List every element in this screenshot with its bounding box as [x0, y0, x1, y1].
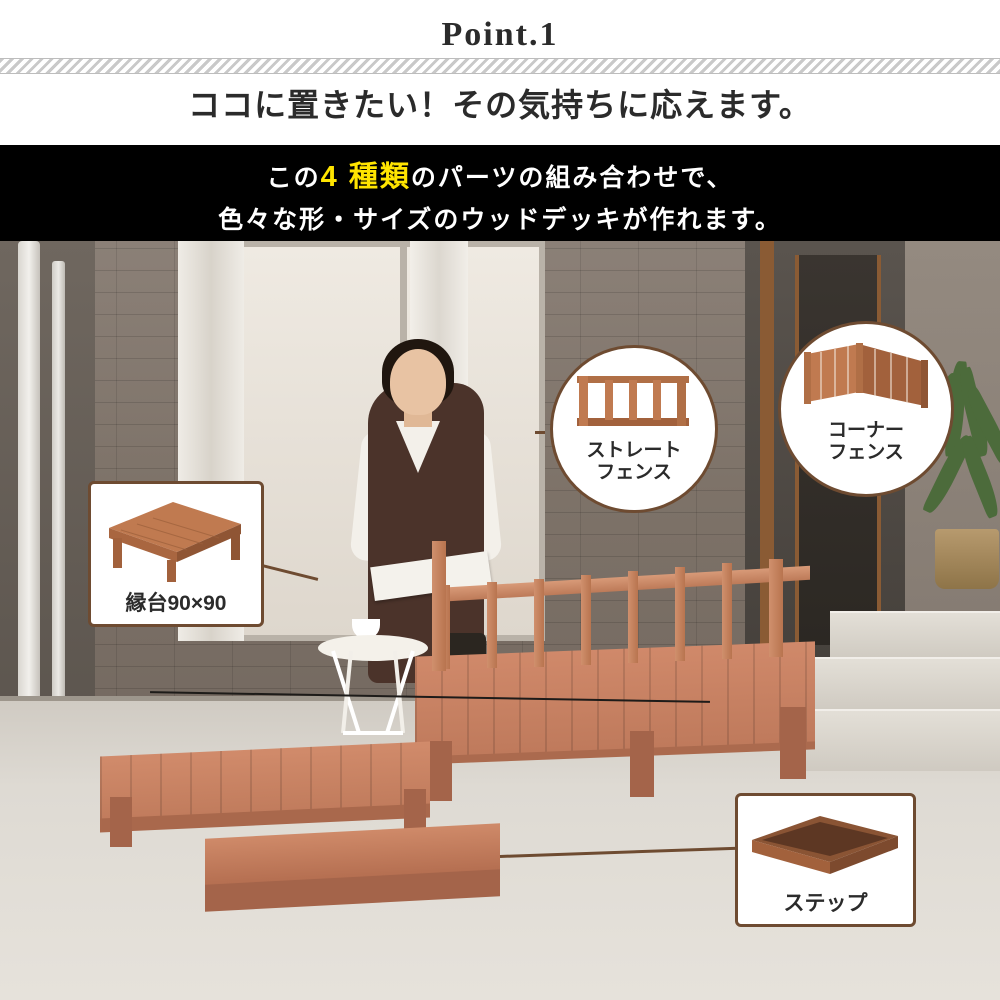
header: Point.1 ココに置きたい！その気持ちに応えます。 — [0, 0, 1000, 145]
callout-step: ステップ — [735, 793, 916, 927]
straight-fence-illustration — [573, 370, 693, 432]
callout-corner-fence-label: コーナー フェンス — [781, 420, 951, 464]
callout-straight-fence: ストレート フェンス — [550, 345, 718, 513]
railing-post — [769, 559, 783, 657]
highlight-band: この4 種類のパーツの組み合わせで、 色々な形・サイズのウッドデッキが作れます。 — [0, 145, 1000, 241]
railing-baluster — [675, 567, 685, 661]
callout-straight-fence-label-line1: ストレート — [553, 440, 715, 462]
deck-leg-3 — [430, 741, 452, 801]
point-badge: Point.1 — [426, 14, 575, 58]
callout-corner-fence-label-line2: フェンス — [781, 442, 951, 464]
stripe-divider — [0, 58, 1000, 74]
band-line-1: この4 種類のパーツの組み合わせで、 — [0, 145, 1000, 192]
callout-straight-fence-label: ストレート フェンス — [553, 440, 715, 484]
railing-baluster — [628, 571, 638, 663]
band-line-1-prefix: この — [267, 164, 321, 192]
concrete-step-3 — [790, 709, 1000, 771]
band-line-2: 色々な形・サイズのウッドデッキが作れます。 — [0, 192, 1000, 233]
deck-leg-5 — [780, 707, 806, 779]
callout-endai-label: 縁台90×90 — [91, 592, 261, 616]
callout-corner-fence-label-line1: コーナー — [781, 420, 951, 442]
side-table-legs — [325, 647, 421, 737]
band-line-1-suffix: のパーツの組み合わせで、 — [411, 164, 734, 192]
step-illustration — [740, 804, 908, 886]
railing-baluster — [581, 575, 591, 665]
drain-pipe — [18, 241, 40, 711]
page-title: ココに置きたい！その気持ちに応えます。 — [0, 80, 1000, 126]
page-root: Point.1 ココに置きたい！その気持ちに応えます。 この4 種類のパーツの組… — [0, 0, 1000, 1000]
drain-pipe-secondary — [52, 261, 65, 711]
callout-endai: 縁台90×90 — [88, 481, 264, 627]
callout-step-label: ステップ — [738, 892, 913, 916]
band-line-1-highlight: 4 種類 — [321, 161, 411, 193]
railing-baluster — [722, 563, 732, 659]
concrete-step-1 — [830, 611, 1000, 659]
wall-left-panel — [0, 241, 95, 711]
person-head — [390, 349, 446, 415]
plant-pot — [935, 529, 999, 589]
product-photo: 縁台90×90 ストレート フェンス — [0, 241, 1000, 1000]
callout-straight-fence-label-line2: フェンス — [553, 462, 715, 484]
railing-post — [432, 541, 446, 671]
deck-leg-4 — [630, 731, 654, 797]
endai-illustration — [91, 488, 255, 584]
railing-baluster — [487, 582, 497, 668]
callout-leader-straight — [535, 431, 545, 434]
corner-fence-illustration — [801, 340, 933, 414]
callout-corner-fence: コーナー フェンス — [778, 321, 954, 497]
deck-leg-1 — [110, 797, 132, 847]
railing-baluster — [534, 579, 544, 667]
concrete-step-2 — [810, 657, 1000, 711]
